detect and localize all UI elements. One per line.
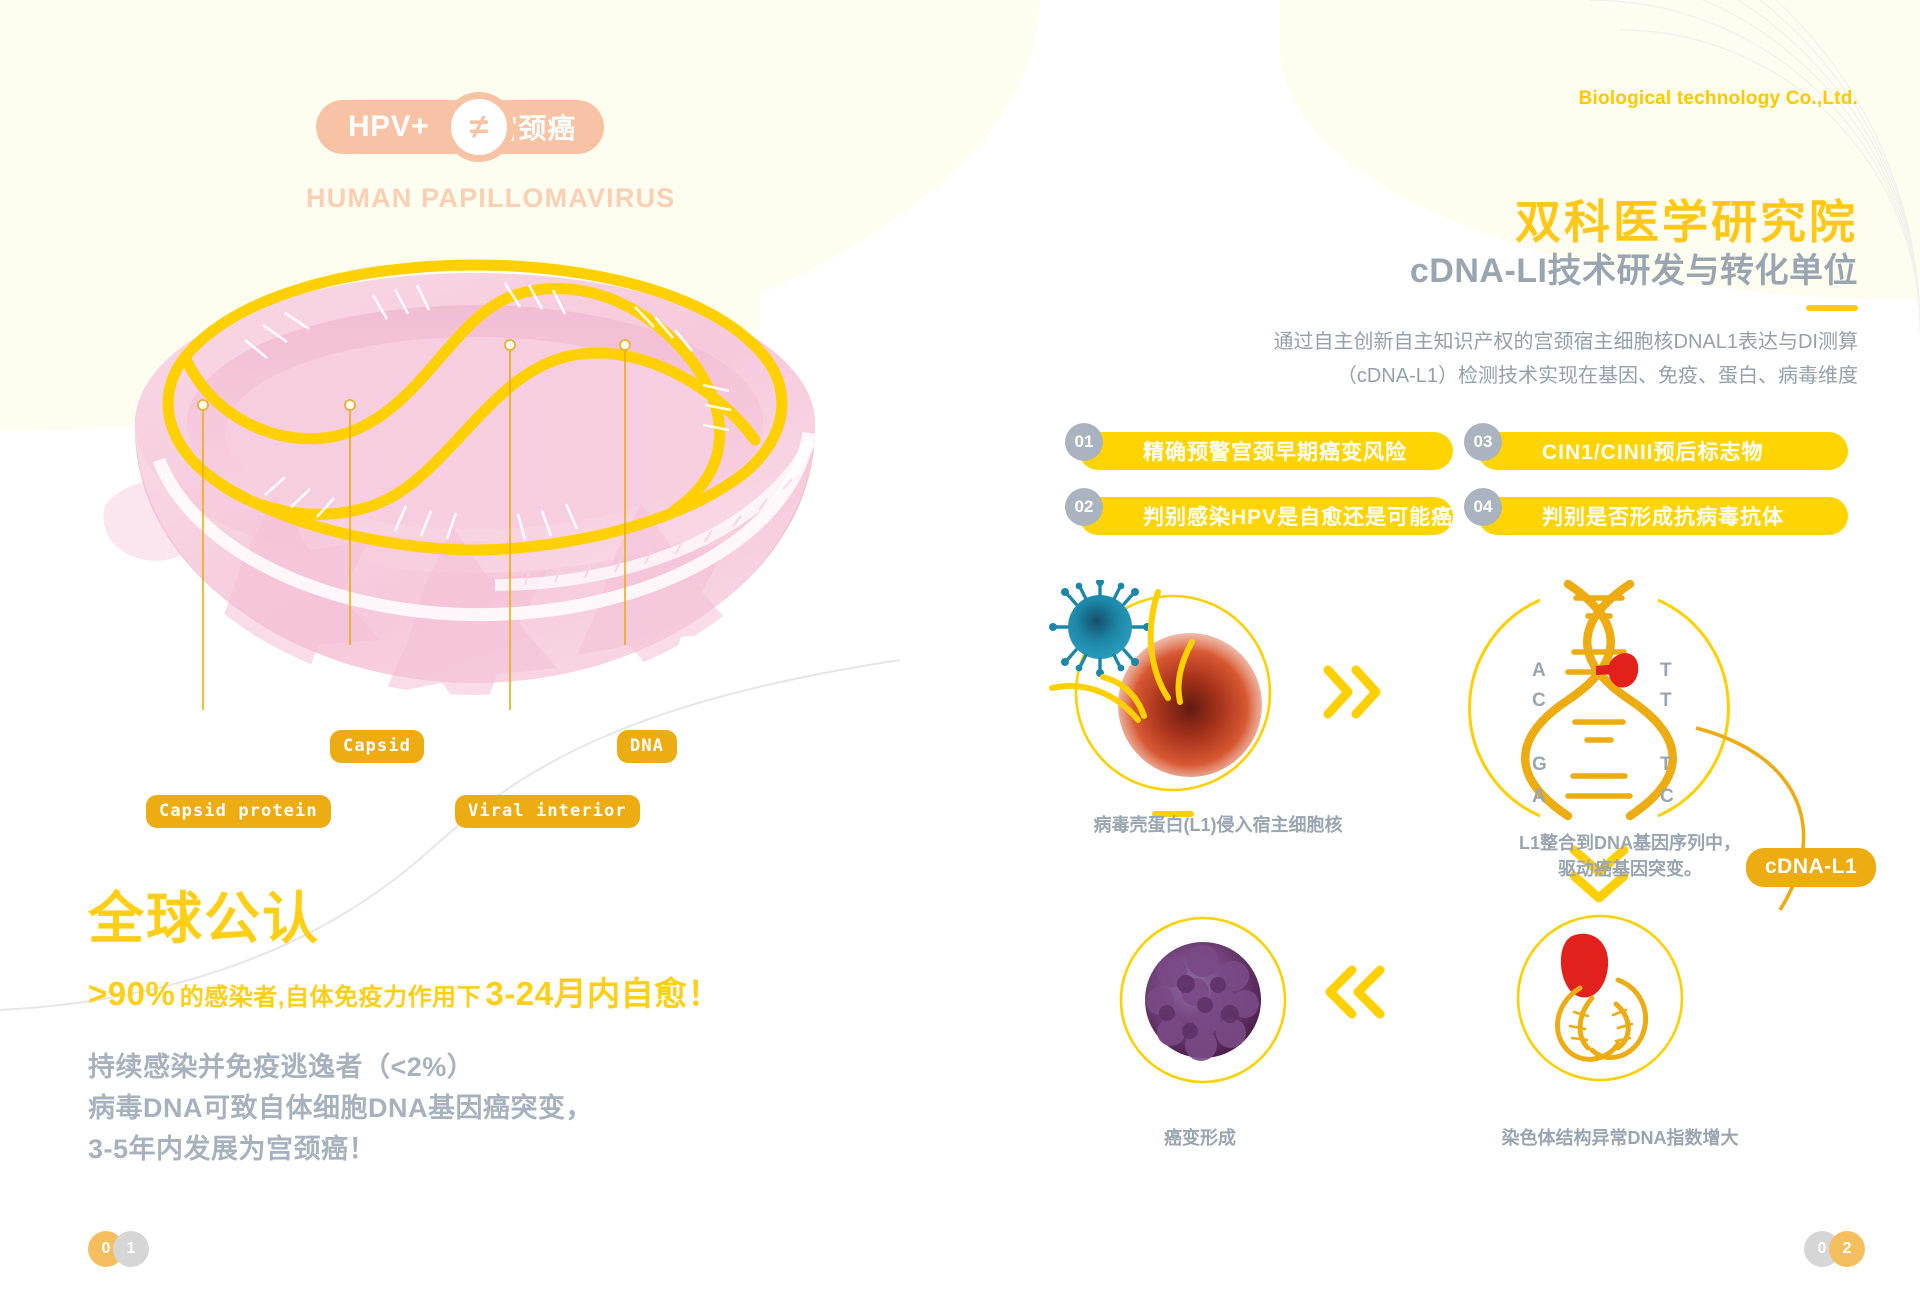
page-left-digit-2: 1: [113, 1231, 149, 1267]
hpv-badge: HPV+ 宫颈癌 ≠: [316, 100, 604, 154]
institute-description: 通过自主创新自主知识产权的宫颈宿主细胞核DNAL1表达与DI测算 （cDNA-L…: [1274, 325, 1858, 393]
global-consensus-paragraph: 持续感染并免疫逃逸者（<2%） 病毒DNA可致自体细胞DNA基因癌突变， 3-5…: [88, 1047, 848, 1170]
step2-dna-integration: A C G A T T T C: [1470, 584, 1729, 816]
feature-number-02: 02: [1065, 488, 1103, 526]
dna-base-right-3: T: [1660, 754, 1672, 775]
description-line: 通过自主创新自主知识产权的宫颈宿主细胞核DNAL1表达与DI测算: [1274, 325, 1858, 359]
process-caption-3: 染色体结构异常DNA指数增大: [1470, 1125, 1770, 1151]
feature-number-03: 03: [1464, 423, 1502, 461]
annotation-capsid: Capsid: [330, 730, 424, 763]
description-line: （cDNA-L1）检测技术实现在基因、免疫、蛋白、病毒维度: [1274, 359, 1858, 393]
stat-middle-text: 的感染者,自体免疫力作用下: [180, 984, 481, 1011]
process-caption-2: L1整合到DNA基因序列中， 驱动癌基因突变。: [1490, 830, 1770, 882]
feature-label-04: 判别是否形成抗病毒抗体: [1478, 497, 1848, 535]
caption-line: L1整合到DNA基因序列中，: [1490, 830, 1770, 856]
institute-subtitle: cDNA-LI技术研发与转化单位: [1410, 243, 1858, 292]
annotation-leader-lines: [95, 255, 875, 835]
not-equal-icon: ≠: [444, 92, 514, 162]
paragraph-line: 病毒DNA可致自体细胞DNA基因癌突变，: [88, 1088, 848, 1129]
feature-number-04: 04: [1464, 488, 1502, 526]
cdna-l1-badge: cDNA-L1: [1746, 848, 1876, 887]
annotation-capsid-protein: Capsid protein: [146, 795, 331, 828]
dna-base-right-4: C: [1660, 786, 1674, 807]
step4-tumor-formation: [1121, 918, 1285, 1082]
caption-line: 驱动癌基因突变。: [1490, 856, 1770, 882]
page-number-left: 0 1: [88, 1231, 149, 1267]
hpv-subtitle: HUMAN PAPILLOMAVIRUS: [306, 183, 676, 214]
feature-number-01: 01: [1065, 423, 1103, 461]
stat-percentage: >90%: [88, 975, 175, 1012]
global-consensus-stat: >90% 的感染者,自体免疫力作用下 3-24月内自愈！: [88, 967, 848, 1015]
arrow-right-icon: [1328, 670, 1376, 714]
page-number-right: 0 2: [1804, 1231, 1865, 1267]
company-name: Biological technology Co.,Ltd.: [1579, 88, 1858, 110]
hpv-pill: HPV+ 宫颈癌 ≠: [316, 100, 604, 154]
dna-base-left-2: C: [1532, 690, 1546, 711]
paragraph-line: 持续感染并免疫逃逸者（<2%）: [88, 1047, 848, 1088]
process-caption-1: 病毒壳蛋白(L1)侵入宿主细胞核: [1078, 812, 1358, 838]
feature-label-03: CIN1/CINII预后标志物: [1478, 432, 1848, 470]
title-divider: [1806, 305, 1858, 311]
global-consensus-block: 全球公认 >90% 的感染者,自体免疫力作用下 3-24月内自愈！ 持续感染并免…: [88, 890, 848, 1170]
dna-base-left-4: A: [1532, 786, 1546, 807]
annotation-dna: DNA: [617, 730, 677, 763]
feature-label-02: 判别感染HPV是自愈还是可能癌变: [1079, 497, 1453, 535]
dna-base-right-2: T: [1660, 690, 1672, 711]
process-caption-4: 癌变形成: [1070, 1125, 1330, 1151]
paragraph-line: 3-5年内发展为宫颈癌！: [88, 1129, 848, 1170]
annotation-viral-interior: Viral interior: [455, 795, 640, 828]
dna-base-left-3: G: [1532, 754, 1547, 775]
step1-cell-infection: [1049, 580, 1270, 817]
arrow-left-icon: [1330, 970, 1380, 1014]
feature-label-01: 精确预警宫颈早期癌变风险: [1079, 432, 1453, 470]
dna-base-left-1: A: [1532, 660, 1546, 681]
global-consensus-title: 全球公认: [88, 890, 848, 949]
stat-duration: 3-24月内自愈！: [485, 975, 721, 1012]
step3-chromosome-abnormality: [1518, 916, 1682, 1080]
hpv-left-label: HPV+: [348, 110, 429, 144]
page-right-digit-2: 2: [1829, 1231, 1865, 1267]
dna-base-right-1: T: [1660, 660, 1672, 681]
